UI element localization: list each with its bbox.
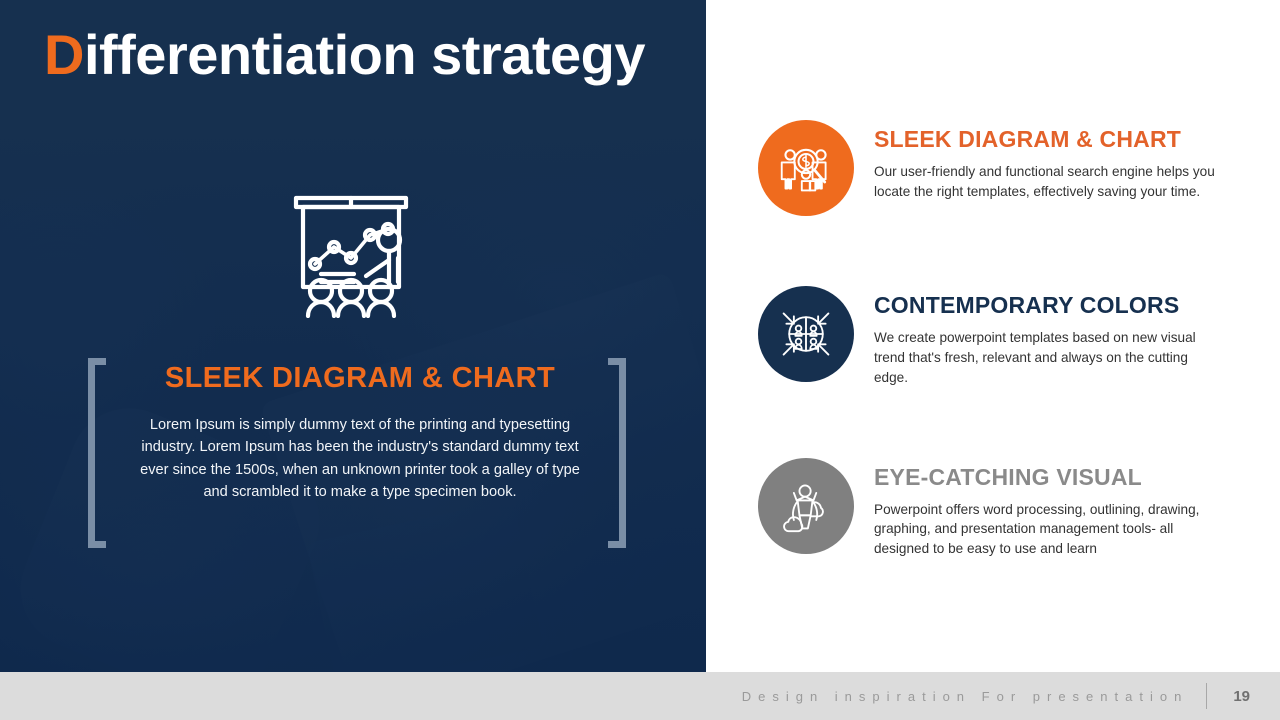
page-title-rest: ifferentiation strategy (84, 23, 645, 86)
feature-icon-circle (758, 120, 854, 216)
bracket-left-stem (88, 358, 95, 548)
page-title-accent-letter: D (44, 23, 84, 86)
page-title: Differentiation strategy (44, 22, 645, 87)
people-search-money-icon (778, 140, 834, 196)
feature-text: EYE-CATCHING VISUAL Powerpoint offers wo… (854, 458, 1219, 560)
blue-color-overlay (0, 0, 706, 672)
bracket-right-stem (619, 358, 626, 548)
callout-title: SLEEK DIAGRAM & CHART (130, 362, 590, 395)
feature-item[interactable]: SLEEK DIAGRAM & CHART Our user-friendly … (758, 120, 1238, 216)
team-quadrant-arrows-icon (778, 306, 834, 362)
feature-title: CONTEMPORARY COLORS (874, 292, 1219, 319)
feature-icon-circle (758, 458, 854, 554)
feature-list: SLEEK DIAGRAM & CHART Our user-friendly … (758, 120, 1238, 559)
superhero-clouds-icon (778, 478, 834, 534)
bracket-left-foot-bottom (88, 541, 106, 548)
page-number: 19 (1233, 688, 1250, 705)
feature-item[interactable]: EYE-CATCHING VISUAL Powerpoint offers wo… (758, 458, 1238, 560)
feature-description: We create powerpoint templates based on … (874, 328, 1219, 388)
feature-description: Powerpoint offers word processing, outli… (874, 500, 1219, 560)
bracket-right (600, 358, 626, 548)
footer-divider (1206, 683, 1207, 709)
presentation-chart-icon (288, 190, 414, 318)
feature-text: CONTEMPORARY COLORS We create powerpoint… (854, 286, 1219, 388)
feature-icon-circle (758, 286, 854, 382)
callout-body: Lorem Ipsum is simply dummy text of the … (130, 414, 590, 504)
feature-description: Our user-friendly and functional search … (874, 162, 1219, 202)
slide: Differentiation strategy (0, 0, 1280, 720)
footer-tagline: Design inspiration For presentation (742, 689, 1189, 704)
footer-bar: Design inspiration For presentation 19 (0, 672, 1280, 720)
left-panel (0, 0, 706, 672)
bracket-left (88, 358, 114, 548)
feature-title: SLEEK DIAGRAM & CHART (874, 126, 1219, 153)
bracket-right-foot-bottom (608, 541, 626, 548)
feature-text: SLEEK DIAGRAM & CHART Our user-friendly … (854, 120, 1219, 202)
feature-title: EYE-CATCHING VISUAL (874, 464, 1219, 491)
bracket-left-foot-top (88, 358, 106, 365)
feature-item[interactable]: CONTEMPORARY COLORS We create powerpoint… (758, 286, 1238, 388)
bracket-right-foot-top (608, 358, 626, 365)
callout-block: SLEEK DIAGRAM & CHART Lorem Ipsum is sim… (130, 362, 590, 504)
